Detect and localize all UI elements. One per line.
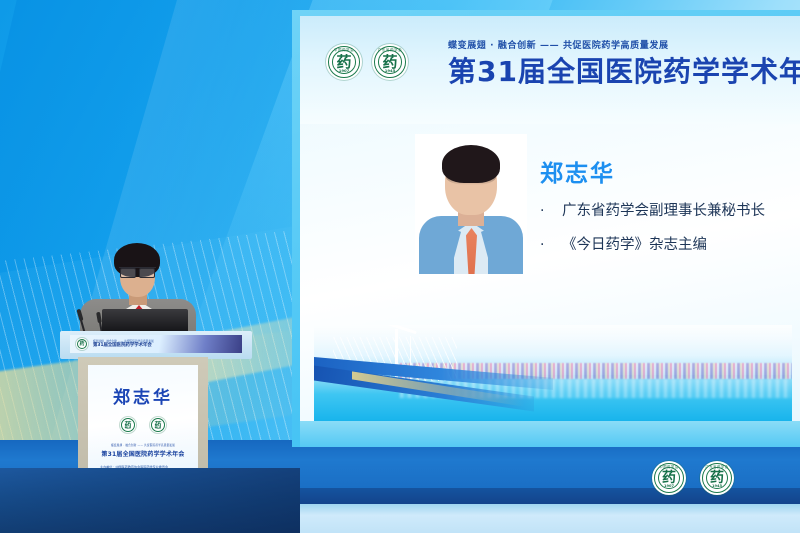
conference-tagline: 蝶变展翅 · 融合创新 —— 共促医院药学高质量发展 <box>448 38 792 51</box>
lectern-top: 药 蝶变展翅 · 融合创新 —— 共促医院药学高质量发展 第31届全国医院药学学… <box>60 331 252 359</box>
slide-header-text: 蝶变展翅 · 融合创新 —— 共促医院药学高质量发展 第31届全国医院药学学术年… <box>448 38 792 86</box>
speaker-credentials-list: · 广东省药学会副理事长兼秘书长 · 《今日药学》杂志主编 <box>540 204 790 252</box>
table-skirt <box>0 468 300 533</box>
slide-cityscape-image <box>314 325 792 421</box>
list-item: · 《今日药学》杂志主编 <box>540 238 790 253</box>
list-item: · 广东省药学会副理事长兼秘书长 <box>540 204 790 219</box>
emblem-arc-text: 中国药学会 <box>326 49 362 53</box>
emblem-outer-ring <box>77 339 88 350</box>
lectern-banner-title: 第31届全国医院药学学术年会 <box>93 343 154 350</box>
emblem-arc-text: 广东省药学会 <box>372 49 408 53</box>
emblem-arc-text: 中国药学会 <box>652 466 686 469</box>
slide-bottom-strip <box>300 421 800 447</box>
pharmacy-emblem-1907-icon: 药 <box>76 338 88 350</box>
conference-photo: 中国药学会 药 1907 广东省药学会 药 1945 中国药学会 <box>0 0 800 533</box>
portrait-hair <box>442 145 500 183</box>
placard-tagline: 蝶变展翅 · 融合创新 —— 共促医院药学高质量发展 <box>88 443 198 447</box>
placard-speaker-name: 郑志华 <box>88 383 198 408</box>
pharmacy-emblem-1907-icon: 药 1907 <box>120 417 136 433</box>
emblem-year: 1945 <box>150 428 166 430</box>
speaker-portrait <box>415 134 527 274</box>
emblem-year: 1907 <box>120 428 136 430</box>
wall-logo-group: 中国药学会 药 1907 广东省药学会 药 1945 <box>652 461 734 495</box>
credential-text: 《今日药学》杂志主编 <box>562 238 707 253</box>
pharmacy-emblem-1945-icon: 广东省药学会 药 1945 <box>700 461 734 495</box>
pharmacy-emblem-1907-icon: 中国药学会 药 1907 <box>652 461 686 495</box>
speaker-info-block: 郑志华 · 广东省药学会副理事长兼秘书长 · 《今日药学》杂志主编 <box>540 154 790 271</box>
placard-logo-group: 药 1907 药 1945 <box>88 417 198 433</box>
presentation-slide: 中国药学会 药 1907 广东省药学会 药 1945 蝶变展翅 · 融合创新 —… <box>300 16 800 447</box>
glasses-icon <box>119 267 156 277</box>
lectern-banner-text: 蝶变展翅 · 融合创新 —— 共促医院药学高质量发展 第31届全国医院药学学术年… <box>93 339 154 350</box>
bullet-icon: · <box>540 204 562 218</box>
emblem-year: 1945 <box>700 485 734 489</box>
slide-header: 中国药学会 药 1907 广东省药学会 药 1945 蝶变展翅 · 融合创新 —… <box>300 16 800 124</box>
stage-table <box>0 468 300 533</box>
lectern-banner: 药 蝶变展翅 · 融合创新 —— 共促医院药学高质量发展 第31届全国医院药学学… <box>70 335 242 353</box>
pharmacy-emblem-1907-icon: 中国药学会 药 1907 <box>326 44 362 80</box>
credential-text: 广东省药学会副理事长兼秘书长 <box>562 204 765 219</box>
speaker-name: 郑志华 <box>540 154 790 188</box>
emblem-year: 1907 <box>652 485 686 489</box>
slide-logo-group: 中国药学会 药 1907 广东省药学会 药 1945 <box>326 44 408 80</box>
bullet-icon: · <box>540 238 562 252</box>
placard-conference-title: 第31届全国医院药学学术年会 <box>88 449 198 458</box>
laptop-device[interactable] <box>102 309 188 331</box>
pharmacy-emblem-1945-icon: 广东省药学会 药 1945 <box>372 44 408 80</box>
emblem-year: 1945 <box>372 69 408 73</box>
projection-screen: 中国药学会 药 1907 广东省药学会 药 1945 蝶变展翅 · 融合创新 —… <box>292 10 800 447</box>
emblem-arc-text: 广东省药学会 <box>700 466 734 469</box>
emblem-year: 1907 <box>326 69 362 73</box>
pharmacy-emblem-1945-icon: 药 1945 <box>150 417 166 433</box>
conference-title: 第31届全国医院药学学术年会 <box>448 57 792 86</box>
